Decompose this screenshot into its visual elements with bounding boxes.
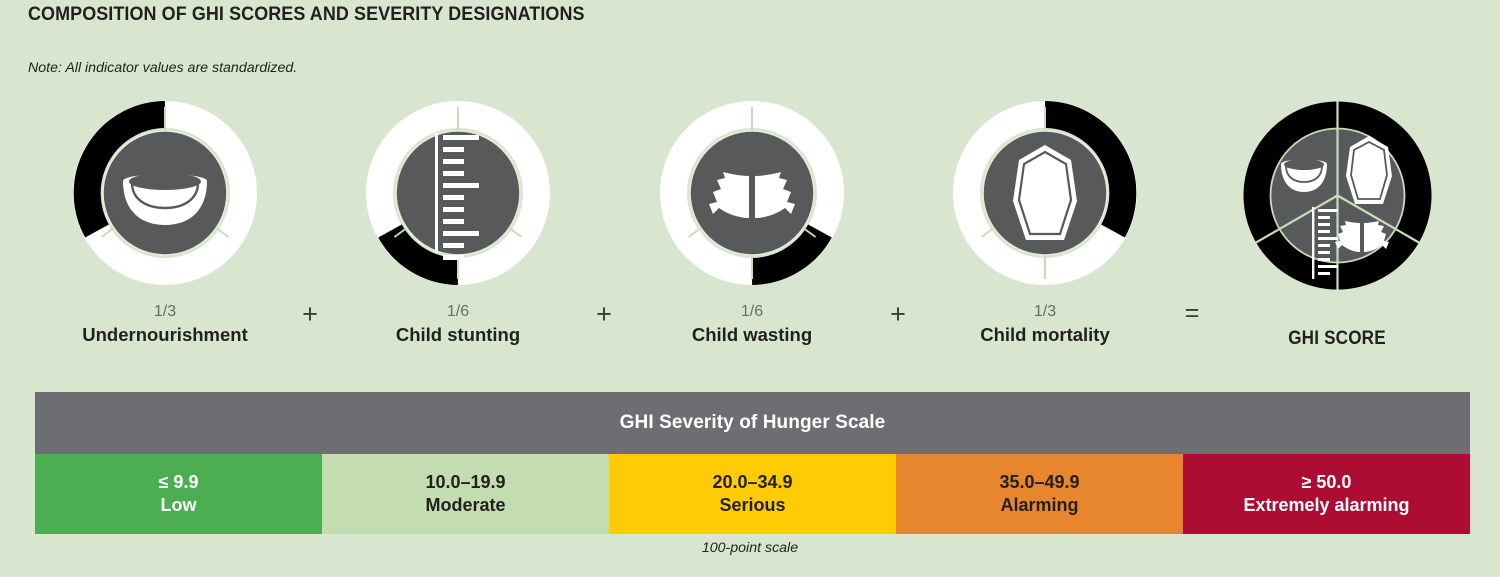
operator-plus-3: + [878, 301, 918, 328]
note-text: Note: All indicator values are standardi… [28, 60, 297, 76]
band-name: Extremely alarming [1243, 494, 1409, 517]
scale-footnote: 100-point scale [0, 540, 1500, 556]
label-child-mortality: Child mortality [930, 324, 1160, 345]
severity-band-extremely-alarming: ≥ 50.0 Extremely alarming [1183, 454, 1470, 534]
band-range: 10.0–19.9 [425, 471, 505, 494]
severity-band-low: ≤ 9.9 Low [35, 454, 322, 534]
band-range: ≤ 9.9 [159, 471, 199, 494]
fraction-child-wasting: 1/6 [637, 303, 867, 321]
component-child-wasting: 1/6 Child wasting [637, 88, 867, 346]
coffin-icon [1013, 145, 1077, 240]
label-child-wasting: Child wasting [637, 324, 867, 345]
donut-ghi-score-svg [1230, 88, 1445, 303]
label-undernourishment: Undernourishment [50, 324, 280, 345]
scale-bands: ≤ 9.9 Low 10.0–19.9 Moderate 20.0–34.9 S… [35, 454, 1470, 534]
inner-disc [690, 131, 814, 255]
scale-header-label: GHI Severity of Hunger Scale [620, 412, 886, 434]
band-range: ≥ 50.0 [1302, 471, 1352, 494]
donut-ghi-score [1230, 88, 1445, 303]
donut-child-wasting-svg [647, 88, 857, 298]
operator-equals: = [1172, 301, 1212, 326]
fraction-child-mortality: 1/3 [930, 303, 1160, 321]
coffin-icon [1346, 136, 1392, 204]
label-ghi-score: GHI SCORE [1234, 328, 1441, 350]
band-range: 20.0–34.9 [712, 471, 792, 494]
operator-plus-1: + [290, 301, 330, 328]
severity-band-moderate: 10.0–19.9 Moderate [322, 454, 609, 534]
component-child-stunting: 1/6 Child stunting [343, 88, 573, 346]
donut-child-stunting [353, 88, 563, 298]
component-child-mortality: 1/3 Child mortality [930, 88, 1160, 346]
donut-child-mortality [940, 88, 1150, 298]
donut-child-wasting [647, 88, 857, 298]
band-name: Low [161, 494, 197, 517]
band-name: Alarming [1000, 494, 1078, 517]
donut-child-mortality-svg [940, 88, 1150, 298]
label-child-stunting: Child stunting [343, 324, 573, 345]
ghi-severity-scale: GHI Severity of Hunger Scale ≤ 9.9 Low 1… [35, 392, 1470, 534]
severity-band-alarming: 35.0–49.9 Alarming [896, 454, 1183, 534]
donut-child-stunting-svg [353, 88, 563, 298]
page-title: COMPOSITION OF GHI SCORES AND SEVERITY D… [28, 3, 585, 26]
scale-header: GHI Severity of Hunger Scale [35, 392, 1470, 454]
donut-undernourishment-svg [60, 88, 270, 298]
ghi-composition-diagram: 1/3 Undernourishment + [0, 88, 1500, 373]
component-ghi-score: GHI SCORE [1222, 88, 1452, 350]
band-name: Serious [719, 494, 785, 517]
donut-undernourishment [60, 88, 270, 298]
fraction-child-stunting: 1/6 [343, 303, 573, 321]
severity-band-serious: 20.0–34.9 Serious [609, 454, 896, 534]
band-name: Moderate [425, 494, 505, 517]
band-range: 35.0–49.9 [999, 471, 1079, 494]
component-undernourishment: 1/3 Undernourishment [50, 88, 280, 346]
fraction-undernourishment: 1/3 [50, 303, 280, 321]
operator-plus-2: + [584, 301, 624, 328]
